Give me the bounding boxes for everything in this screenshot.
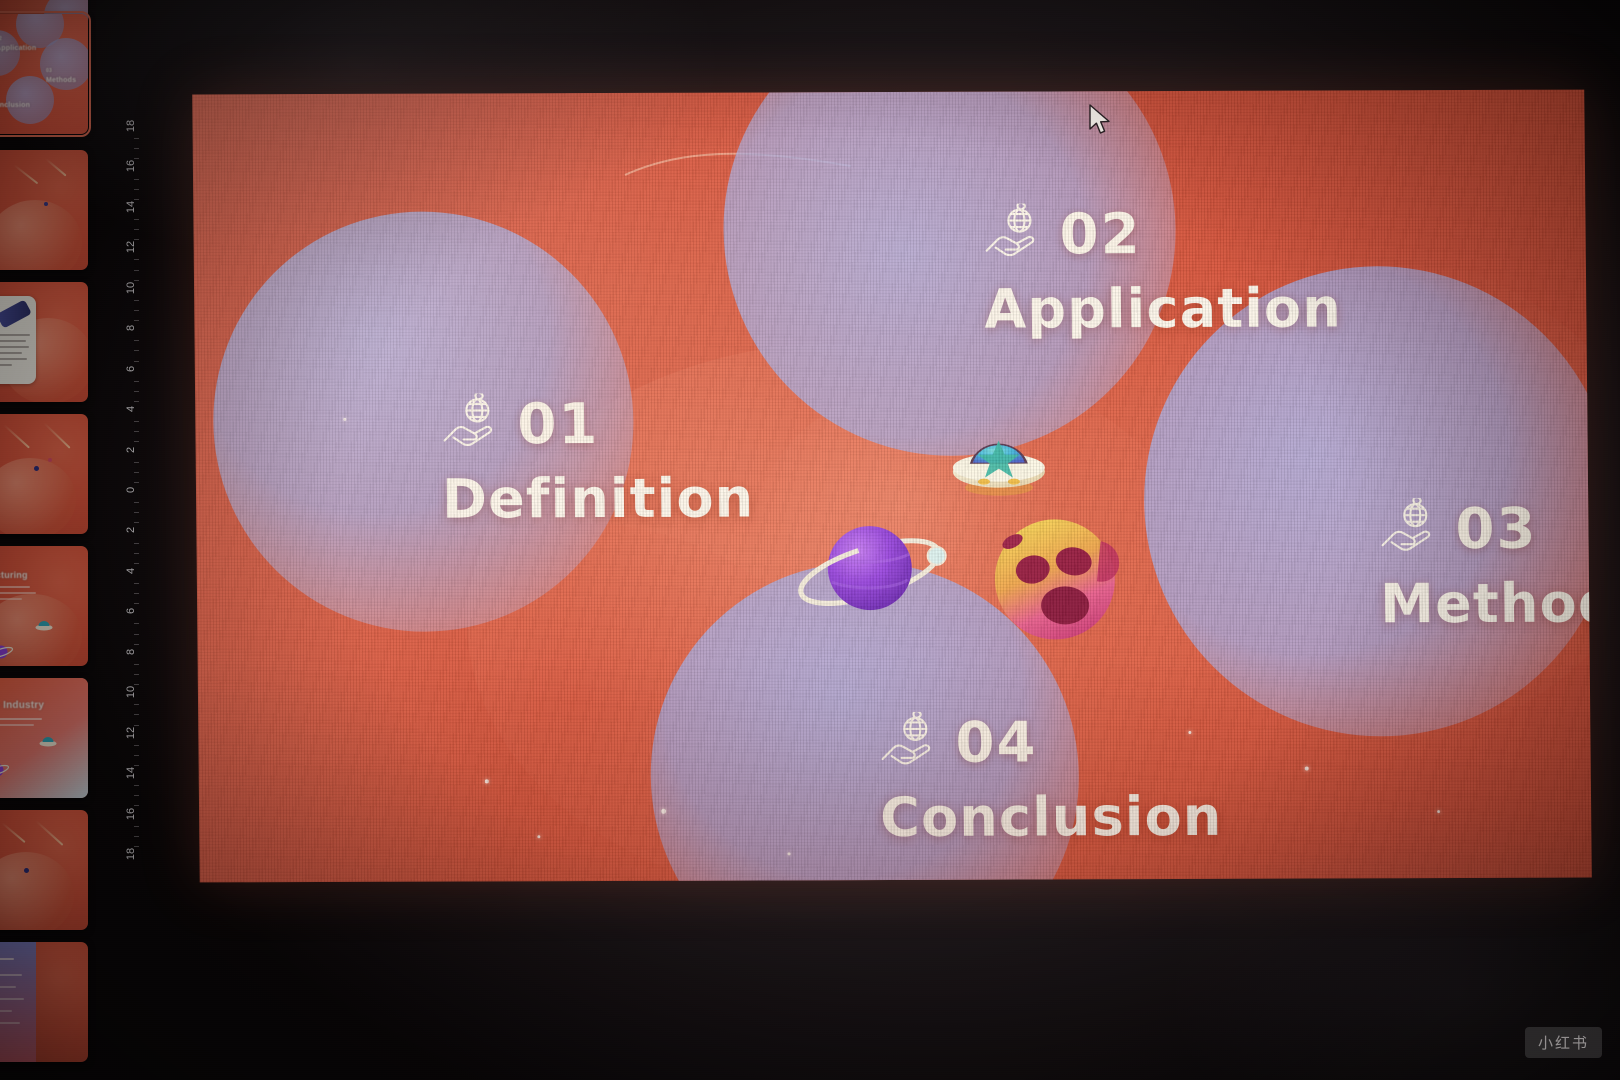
ruler-label: 6 (125, 600, 137, 622)
ruler-tick (134, 421, 139, 422)
ruler-label: 4 (125, 560, 137, 582)
list-item-selected[interactable]: 02 Application 03 Methods Conclusion (0, 14, 88, 134)
ruler-tick (134, 785, 139, 786)
ruler-tick (134, 623, 139, 624)
thumb-panel (0, 942, 36, 1062)
saturn-sprite (797, 512, 958, 625)
ruler-tick (134, 502, 139, 503)
toc-number: 04 (955, 716, 1037, 769)
ruler-tick (134, 553, 139, 554)
hand-globe-icon (1379, 498, 1442, 556)
thumb-dot (34, 466, 39, 471)
ruler-tick (134, 391, 139, 392)
ruler-tick (134, 512, 139, 513)
watermark: 小红书 (1525, 1027, 1602, 1058)
hand-globe-icon (983, 203, 1046, 261)
ruler-tick (134, 310, 139, 311)
ruler-label: 10 (125, 681, 137, 703)
list-item[interactable] (0, 282, 88, 402)
star-dot (1305, 767, 1309, 771)
ruler-tick (134, 593, 139, 594)
toc-number: 02 (1059, 208, 1141, 261)
ruler-tick (134, 219, 139, 220)
ruler-tick (134, 714, 139, 715)
ruler-label: 14 (125, 762, 137, 784)
toc-entry-1[interactable]: 01 Definition (441, 392, 755, 530)
toc-entry-3[interactable]: 03 Methods (1379, 497, 1592, 635)
ruler-label: 18 (125, 843, 137, 865)
thumb-dot (48, 458, 52, 462)
ruler-label: 14 (125, 196, 137, 218)
toc-entry-4[interactable]: 04 Conclusion (879, 711, 1223, 849)
screen-photo: 02 Application 03 Methods Conclusion (0, 0, 1620, 1080)
thumb-item-title: ervice Industry (0, 700, 44, 711)
ruler-label: 4 (125, 398, 137, 420)
hand-globe-icon (879, 712, 942, 770)
ruler-tick (134, 270, 139, 271)
thumb-item-number: 03 (46, 68, 52, 74)
ruler-tick (134, 462, 139, 463)
ruler-tick (134, 229, 139, 230)
ruler-tick (134, 138, 139, 139)
slide-canvas[interactable]: 01 Definition (192, 90, 1592, 883)
ruler-label: 2 (125, 519, 137, 541)
star-dot (343, 418, 346, 421)
star-dot (661, 809, 666, 814)
slide-thumbnail-rail[interactable]: 02 Application 03 Methods Conclusion (0, 0, 96, 1080)
ruler-tick (134, 179, 139, 180)
slide-surface[interactable]: 01 Definition (192, 90, 1592, 883)
ufo-sprite (943, 413, 1054, 505)
mouse-pointer-icon (1088, 104, 1114, 143)
ruler-label: 2 (125, 439, 137, 461)
ruler-tick (134, 300, 139, 301)
thumb-item-title: Application (0, 45, 36, 52)
toc-title: Application (984, 276, 1342, 340)
ruler-label: 18 (125, 115, 137, 137)
thumb-item-title: Conclusion (0, 102, 30, 109)
ruler-tick (134, 259, 139, 260)
star-dot (485, 779, 489, 783)
ruler-tick (134, 836, 139, 837)
ruler-label: 12 (125, 722, 137, 744)
ruler-tick (134, 381, 139, 382)
ruler-label: 16 (125, 803, 137, 825)
ruler-tick (134, 472, 139, 473)
ruler-tick (134, 634, 139, 635)
ruler-tick (134, 826, 139, 827)
ruler-label: 10 (125, 277, 137, 299)
ruler-label: 8 (125, 317, 137, 339)
toc-entry-2[interactable]: 02 Application (983, 202, 1342, 340)
ruler-tick (134, 674, 139, 675)
toc-number: 01 (517, 398, 599, 451)
thumb-item-title: Methods (46, 77, 76, 84)
ruler-tick (134, 189, 139, 190)
toc-title: Conclusion (880, 785, 1223, 849)
ruler-tick (134, 431, 139, 432)
ruler-tick (134, 795, 139, 796)
ruler-tick (134, 340, 139, 341)
star-dot (788, 852, 791, 855)
ruler-tick (134, 148, 139, 149)
ruler-label: 8 (125, 641, 137, 663)
ruler-label: 12 (125, 236, 137, 258)
list-item[interactable] (0, 414, 88, 534)
thumb-dot (24, 868, 29, 873)
ruler-tick (134, 704, 139, 705)
thumb-item-title: nufacturing (0, 570, 28, 580)
list-item[interactable]: nufacturing (0, 546, 88, 666)
star-dot (537, 835, 540, 838)
ruler-tick (134, 745, 139, 746)
ruler-tick (134, 664, 139, 665)
list-item[interactable]: ervice Industry (0, 678, 88, 798)
ruler-label: 0 (125, 479, 137, 501)
ruler-label: 6 (125, 358, 137, 380)
thumb-dot (44, 202, 48, 206)
list-item[interactable] (0, 810, 88, 930)
list-item[interactable] (0, 942, 88, 1062)
vertical-ruler[interactable]: 18161412108642024681012141618 (112, 0, 156, 1080)
toc-number: 03 (1455, 503, 1537, 556)
hand-globe-icon (441, 393, 504, 451)
toc-title: Definition (442, 466, 755, 530)
moon-sprite (988, 513, 1131, 649)
ruler-tick (134, 350, 139, 351)
ruler-label: 16 (125, 155, 137, 177)
ruler-tick (134, 755, 139, 756)
star-dot (1437, 810, 1440, 813)
list-item[interactable] (0, 150, 88, 270)
toc-title: Methods (1380, 571, 1592, 635)
ruler-tick (134, 583, 139, 584)
thumb-item-number: 02 (0, 36, 2, 42)
ruler-tick (134, 543, 139, 544)
